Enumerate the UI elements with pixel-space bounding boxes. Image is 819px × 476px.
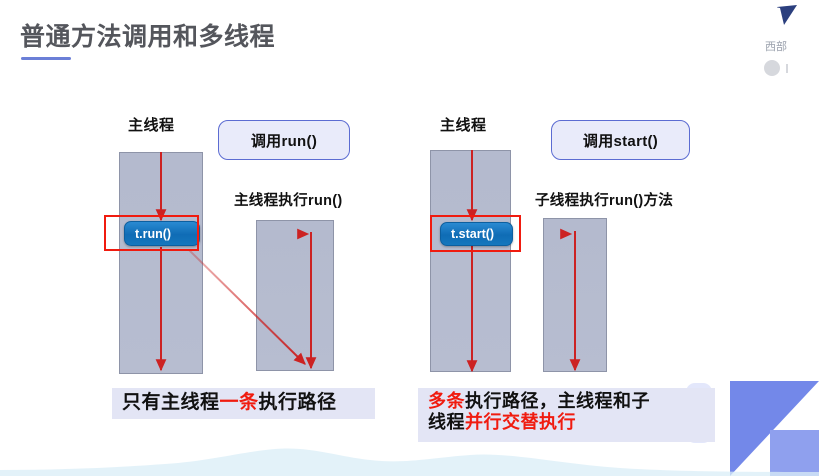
right-main-thread-column	[430, 150, 511, 372]
left-caption: 只有主线程一条执行路径	[112, 388, 375, 419]
watermark-divider	[786, 64, 788, 73]
left-caption-part-1: 一条	[220, 392, 259, 414]
right-caption-part-1: 执行路径，主线程和子	[465, 391, 650, 411]
title-underline-accent	[21, 57, 71, 60]
right-caption: 多条执行路径，主线程和子 线程并行交替执行	[418, 388, 715, 442]
left-caption-part-0: 只有主线程	[122, 392, 220, 414]
left-highlight-rect	[104, 215, 199, 251]
left-main-thread-label: 主线程	[128, 114, 175, 135]
page-title: 普通方法调用和多线程	[20, 17, 275, 53]
right-caption-part-3: 并行交替执行	[465, 412, 576, 432]
right-main-thread-label: 主线程	[440, 114, 487, 135]
left-main-thread-column	[119, 152, 203, 374]
right-side-label: 子线程执行run()方法	[535, 189, 673, 210]
left-second-column	[256, 220, 334, 371]
check-swoosh-logo-icon	[767, 4, 801, 32]
left-side-label: 主线程执行run()	[234, 189, 343, 210]
watermark-group: 西部	[759, 0, 819, 86]
left-callout-box[interactable]: 调用run()	[218, 120, 350, 160]
right-second-column	[543, 218, 607, 372]
right-callout-box[interactable]: 调用start()	[551, 120, 690, 160]
user-avatar-circle-icon	[764, 60, 780, 76]
right-highlight-rect	[430, 215, 521, 252]
slide-canvas: 普通方法调用和多线程 西部	[0, 0, 819, 476]
decorative-wave	[0, 442, 819, 476]
right-caption-part-0: 多条	[428, 391, 465, 411]
right-caption-part-2: 线程	[428, 412, 465, 432]
left-caption-part-2: 执行路径	[259, 392, 337, 414]
brand-text: 西部	[765, 38, 799, 54]
